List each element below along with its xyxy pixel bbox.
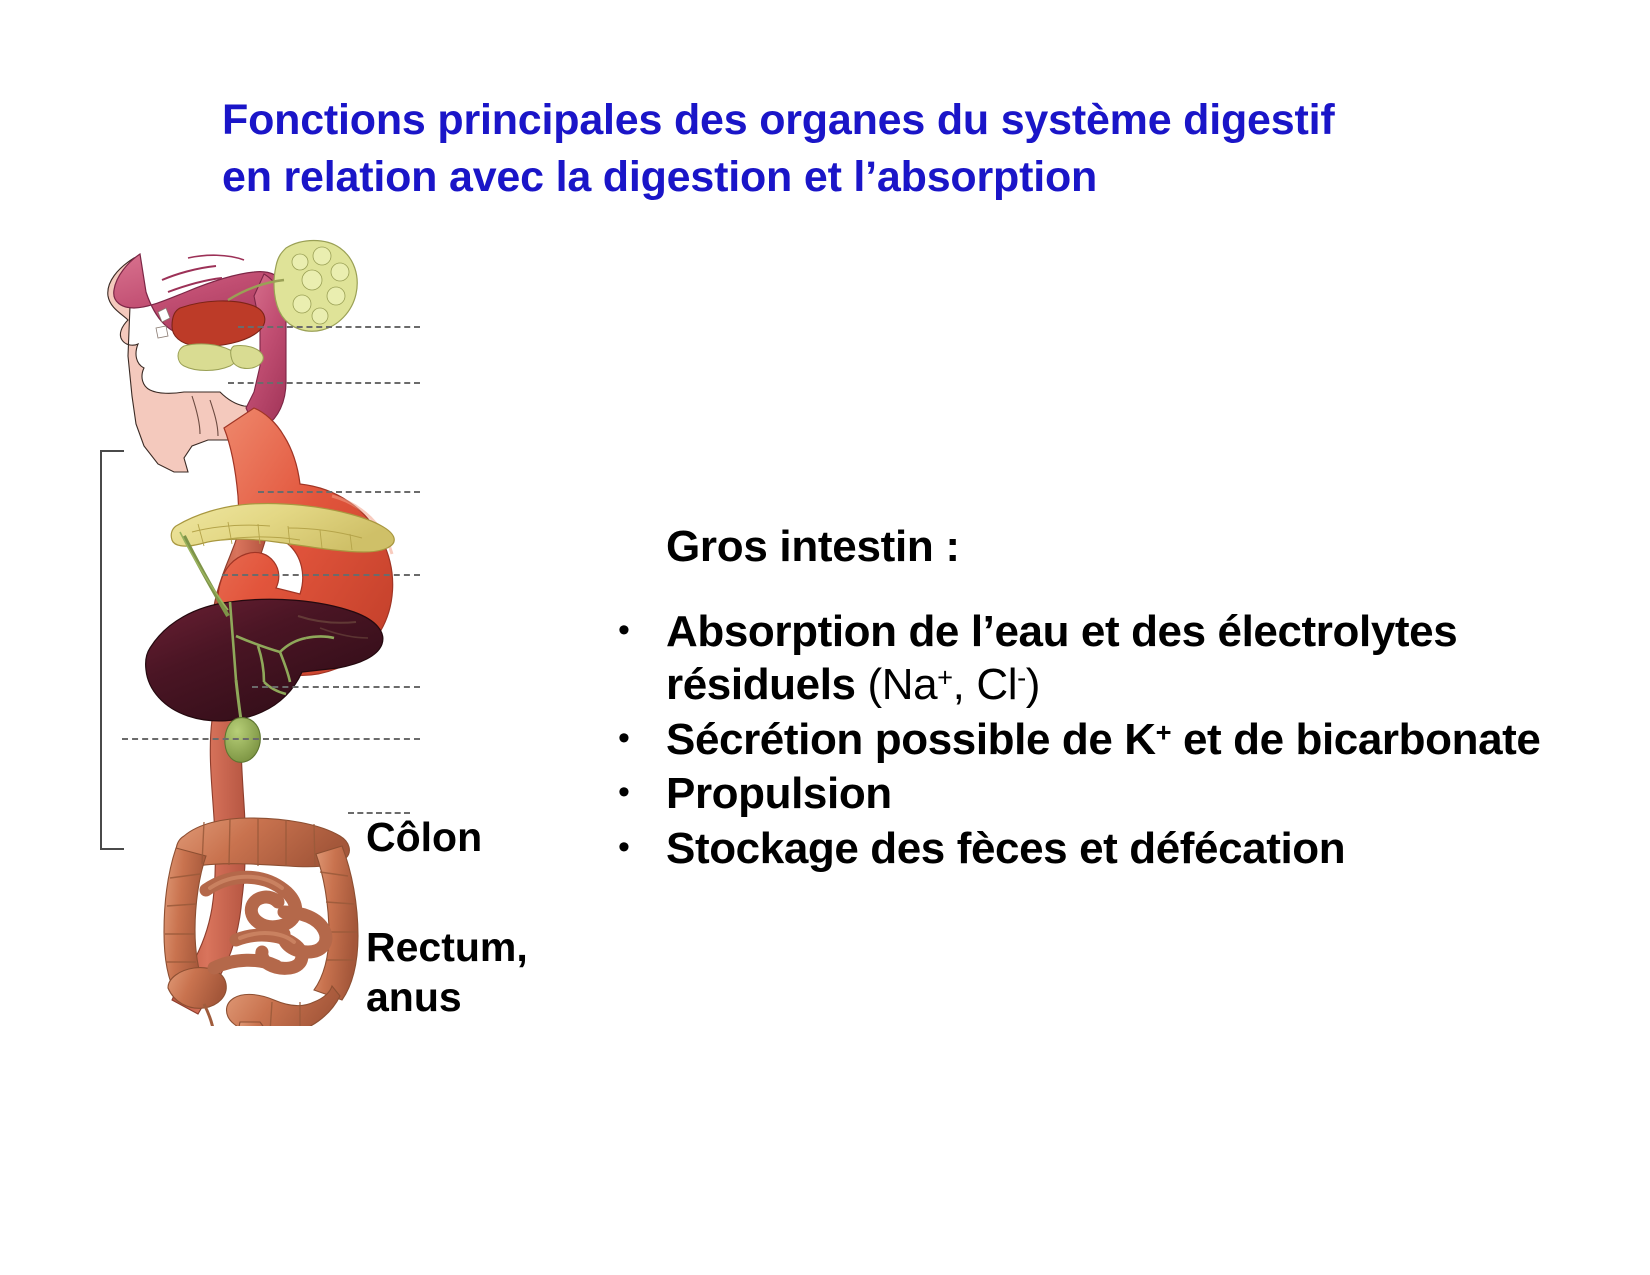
bullet-propulsion-text: Propulsion	[666, 769, 892, 818]
bullet-secretion-sup-k: +	[1156, 716, 1172, 747]
bullet-absorption-bold: Absorption de l’eau et des électrolytes …	[666, 607, 1457, 709]
leader-line-liver	[252, 686, 420, 688]
digestive-system-illustration	[88, 196, 448, 1026]
leader-line-stomach	[258, 491, 420, 493]
bullet-propulsion: Propulsion	[610, 768, 1590, 821]
bullet-secretion-bold: Sécrétion possible de K	[666, 715, 1156, 764]
leader-line-pancreas	[222, 574, 420, 576]
leader-line-esophagus	[228, 382, 420, 384]
organ-label-colon: Côlon	[366, 812, 482, 862]
bullet-storage: Stockage des fèces et défécation	[610, 823, 1590, 876]
bullet-absorption-sup-na: +	[937, 661, 953, 692]
large-intestine-graphic	[164, 818, 358, 1026]
slide-canvas: Fonctions principales des organes du sys…	[0, 0, 1650, 1275]
salivary-gland-graphic	[274, 241, 357, 332]
content-heading: Gros intestin :	[666, 522, 1590, 572]
content-block: Gros intestin : Absorption de l’eau et d…	[610, 522, 1590, 878]
bullet-absorption-tail: )	[1026, 660, 1040, 709]
bullet-secretion: Sécrétion possible de K+ et de bicarbona…	[610, 714, 1590, 767]
organ-label-rectum-anus: Rectum, anus	[366, 922, 528, 1022]
bullet-absorption-sup-cl: -	[1017, 661, 1026, 692]
bullet-absorption-mid: , Cl	[953, 660, 1017, 709]
bullet-absorption: Absorption de l’eau et des électrolytes …	[610, 606, 1590, 712]
bullet-secretion-tail: et de bicarbonate	[1171, 715, 1540, 764]
small-intestine-bracket	[100, 450, 124, 850]
bullet-storage-text: Stockage des fèces et défécation	[666, 824, 1345, 873]
bullet-list: Absorption de l’eau et des électrolytes …	[610, 606, 1590, 876]
bullet-absorption-regular: (Na	[867, 660, 937, 709]
title-line-1: Fonctions principales des organes du sys…	[222, 92, 1482, 149]
leader-line-mouth	[238, 326, 420, 328]
page-title: Fonctions principales des organes du sys…	[222, 92, 1482, 206]
leader-line-gallbladder	[122, 738, 420, 740]
